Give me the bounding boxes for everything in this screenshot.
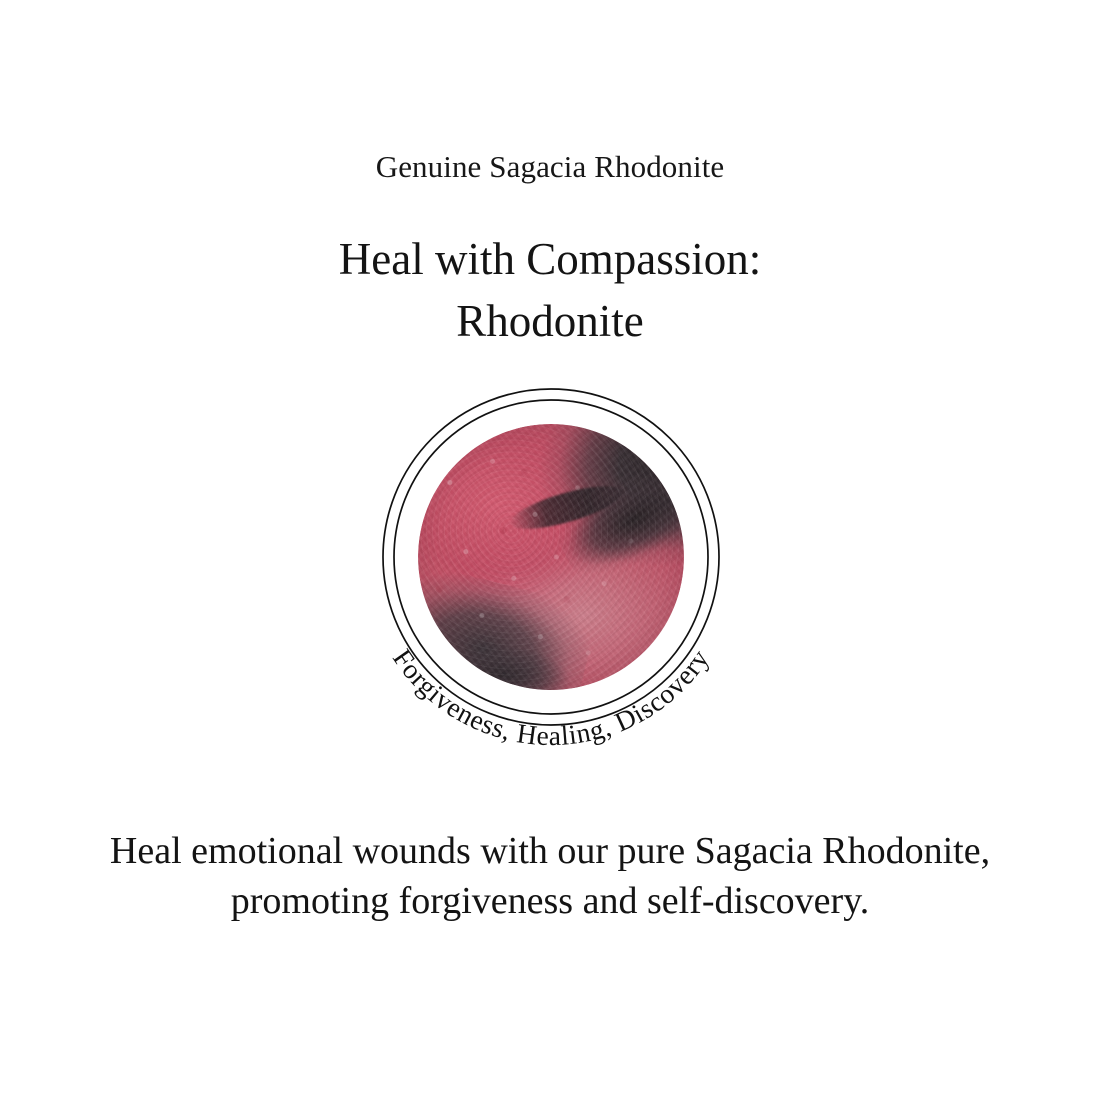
seal-curved-caption: Forgiveness, Healing, Discovery (387, 643, 715, 751)
seal-inner-ring (394, 400, 708, 714)
product-description: Heal emotional wounds with our pure Saga… (50, 826, 1050, 926)
seal-curved-caption-path: Forgiveness, Healing, Discovery (387, 643, 715, 751)
description-line-2: promoting forgiveness and self-discovery… (50, 876, 1050, 926)
product-graphic-canvas: Genuine Sagacia Rhodonite Heal with Comp… (0, 0, 1100, 1100)
headline-line-1: Heal with Compassion: (0, 228, 1100, 290)
page-title: Heal with Compassion: Rhodonite (0, 228, 1100, 352)
seal-rings-and-text: Forgiveness, Healing, Discovery (341, 347, 761, 767)
brand-eyebrow: Genuine Sagacia Rhodonite (0, 147, 1100, 187)
headline-line-2: Rhodonite (0, 290, 1100, 352)
description-line-1: Heal emotional wounds with our pure Saga… (50, 826, 1050, 876)
